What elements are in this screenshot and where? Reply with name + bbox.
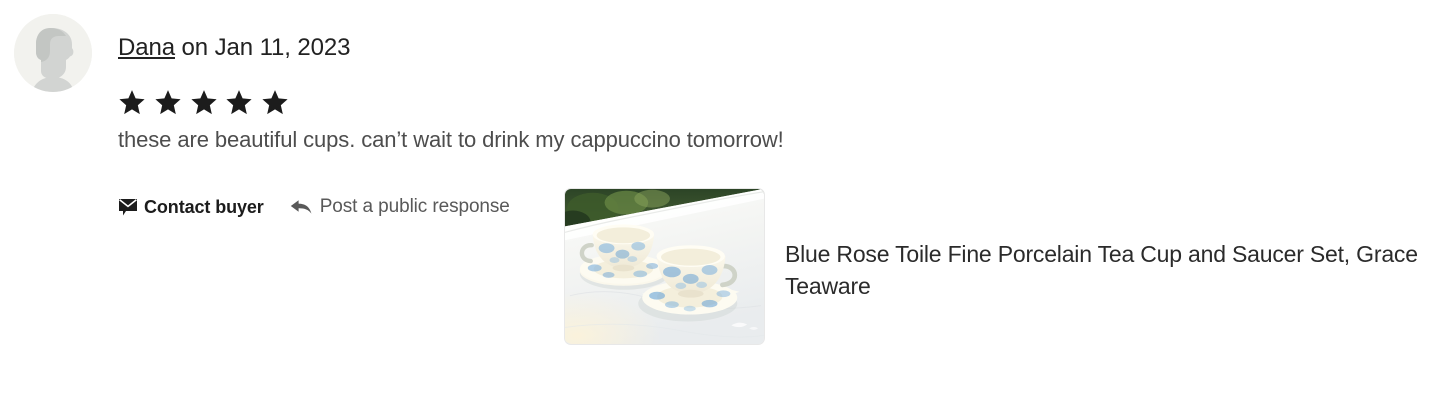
review-actions: Contact buyer Post a public response <box>118 196 510 218</box>
contact-buyer-button[interactable]: Contact buyer <box>118 197 264 218</box>
review-card: Dana on Jan 11, 2023 these are beautiful… <box>0 0 1445 406</box>
review-date: on Jan 11, 2023 <box>175 34 350 61</box>
star-icon <box>225 84 261 115</box>
reply-arrow-icon <box>290 198 312 216</box>
reviewer-name-link[interactable]: Dana <box>118 34 175 61</box>
star-icon <box>154 84 190 115</box>
star-icon <box>261 84 290 115</box>
star-rating <box>118 85 290 116</box>
listing-preview: Blue Rose Toile Fine Porcelain Tea Cup a… <box>564 188 1445 345</box>
review-header: Dana on Jan 11, 2023 <box>118 33 350 63</box>
person-placeholder-icon <box>14 14 92 92</box>
avatar <box>14 14 92 92</box>
star-icon <box>118 84 154 115</box>
contact-buyer-label: Contact buyer <box>144 197 264 218</box>
message-envelope-icon <box>118 198 138 216</box>
review-body-text: these are beautiful cups. can’t wait to … <box>118 125 1018 155</box>
listing-title-link[interactable]: Blue Rose Toile Fine Porcelain Tea Cup a… <box>785 238 1445 302</box>
listing-thumbnail[interactable] <box>564 188 765 345</box>
star-icon <box>190 84 226 115</box>
blue-floral-teacup-and-saucer-set-photo <box>565 189 764 344</box>
post-public-response-label: Post a public response <box>320 196 510 218</box>
post-public-response-button[interactable]: Post a public response <box>290 196 510 218</box>
